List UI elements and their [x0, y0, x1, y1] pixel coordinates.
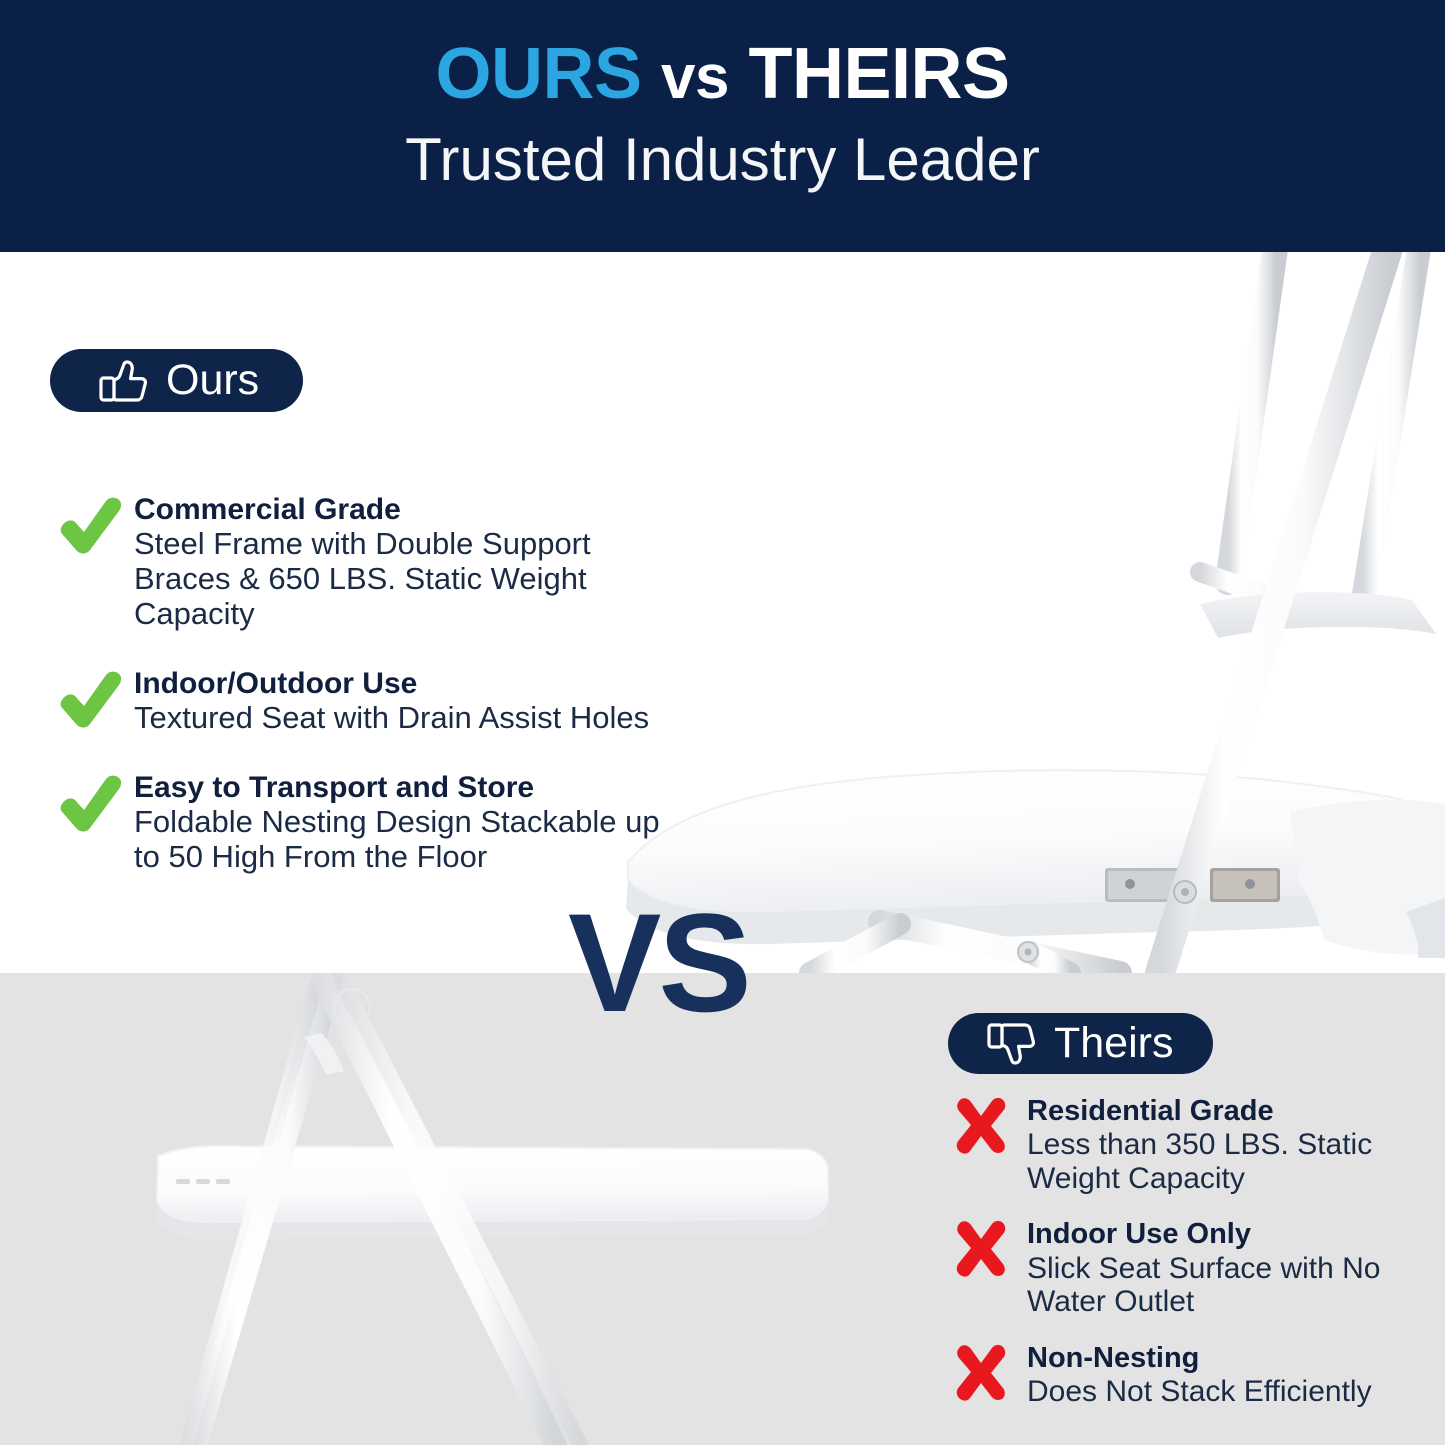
- green-check-icon: [48, 666, 134, 732]
- header-banner: OURS vs THEIRS Trusted Industry Leader: [0, 0, 1445, 252]
- ours-feature-list: Commercial Grade Steel Frame with Double…: [48, 492, 668, 908]
- theirs-chair-image: [0, 973, 900, 1445]
- ours-chair-image: [600, 252, 1445, 973]
- green-check-icon: [48, 492, 134, 558]
- feature-title: Indoor Use Only: [1027, 1217, 1435, 1251]
- green-check-icon: [48, 770, 134, 836]
- folding-chair-side-illustration: [0, 973, 900, 1445]
- feature-body: Slick Seat Surface with No Water Outlet: [1027, 1252, 1435, 1319]
- feature-title: Non-Nesting: [1027, 1341, 1435, 1375]
- list-item: Easy to Transport and Store Foldable Nes…: [48, 770, 668, 875]
- feature-body: Textured Seat with Drain Assist Holes: [134, 701, 668, 736]
- title-vs-word: vs: [661, 43, 729, 112]
- list-item: Indoor/Outdoor Use Textured Seat with Dr…: [48, 666, 668, 736]
- comparison-infographic: OURS vs THEIRS Trusted Industry Leader O…: [0, 0, 1445, 1445]
- list-item: Indoor Use Only Slick Seat Surface with …: [935, 1217, 1435, 1318]
- page-title: OURS vs THEIRS: [0, 38, 1445, 110]
- thumbs-down-icon: [986, 1020, 1038, 1068]
- feature-title: Indoor/Outdoor Use: [134, 666, 668, 701]
- list-item: Commercial Grade Steel Frame with Double…: [48, 492, 668, 632]
- theirs-badge-label: Theirs: [1054, 1022, 1173, 1065]
- list-item: Residential Grade Less than 350 LBS. Sta…: [935, 1094, 1435, 1195]
- vs-divider-label: VS: [568, 893, 749, 1033]
- feature-title: Commercial Grade: [134, 492, 668, 527]
- thumbs-up-icon: [98, 357, 150, 405]
- feature-title: Easy to Transport and Store: [134, 770, 668, 805]
- red-x-icon: [935, 1341, 1027, 1403]
- title-ours-word: OURS: [435, 34, 641, 114]
- ours-badge-label: Ours: [166, 359, 259, 402]
- feature-body: Does Not Stack Efficiently: [1027, 1375, 1435, 1409]
- red-x-icon: [935, 1094, 1027, 1156]
- seat-vent-slots: [176, 1179, 230, 1184]
- feature-body: Less than 350 LBS. Static Weight Capacit…: [1027, 1128, 1435, 1195]
- folding-chair-closeup-illustration: [600, 252, 1445, 973]
- red-x-icon: [935, 1217, 1027, 1279]
- title-theirs-word: THEIRS: [749, 34, 1010, 114]
- feature-body: Foldable Nesting Design Stackable up to …: [134, 805, 668, 874]
- theirs-feature-list: Residential Grade Less than 350 LBS. Sta…: [935, 1094, 1435, 1431]
- seat-rear-lip: [1200, 592, 1436, 638]
- list-item: Non-Nesting Does Not Stack Efficiently: [935, 1341, 1435, 1409]
- ours-badge: Ours: [50, 349, 303, 412]
- feature-title: Residential Grade: [1027, 1094, 1435, 1128]
- theirs-badge: Theirs: [948, 1013, 1213, 1074]
- feature-body: Steel Frame with Double Support Braces &…: [134, 527, 668, 631]
- page-subtitle: Trusted Industry Leader: [0, 128, 1445, 191]
